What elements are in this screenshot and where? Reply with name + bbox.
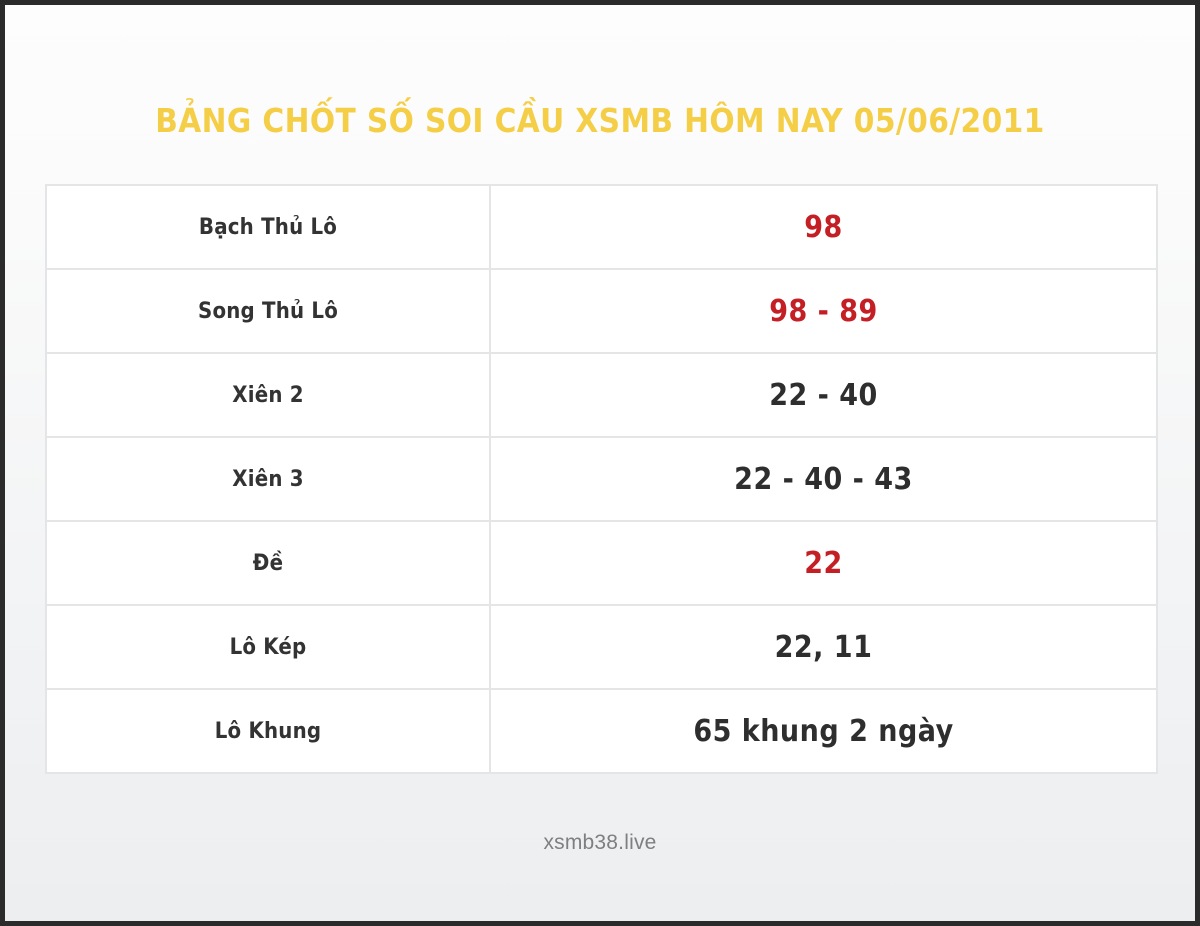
row-label: Lô Kép	[230, 635, 307, 660]
row-label-cell: Lô Kép	[46, 605, 490, 689]
page-title: BẢNG CHỐT SỐ SOI CẦU XSMB HÔM NAY 05/06/…	[5, 101, 1195, 141]
soi-cau-table-body: Bạch Thủ Lô98Song Thủ Lô98 - 89Xiên 222 …	[46, 185, 1157, 773]
row-value: 65 khung 2 ngày	[693, 714, 953, 749]
table-row: Song Thủ Lô98 - 89	[46, 269, 1157, 353]
row-value: 22 - 40	[769, 378, 878, 413]
table-row: Bạch Thủ Lô98	[46, 185, 1157, 269]
row-label: Xiên 3	[232, 467, 303, 492]
row-label: Xiên 2	[232, 383, 303, 408]
row-label-cell: Lô Khung	[46, 689, 490, 773]
row-value: 22	[804, 546, 843, 581]
site-credit: xsmb38.live	[5, 831, 1195, 855]
row-value-cell: 98 - 89	[490, 269, 1157, 353]
row-value: 22 - 40 - 43	[734, 462, 913, 497]
table-row: Lô Kép22, 11	[46, 605, 1157, 689]
table-row: Xiên 222 - 40	[46, 353, 1157, 437]
row-value: 98 - 89	[769, 294, 878, 329]
row-label-cell: Song Thủ Lô	[46, 269, 490, 353]
row-value-cell: 22, 11	[490, 605, 1157, 689]
row-value-cell: 98	[490, 185, 1157, 269]
row-label-cell: Đề	[46, 521, 490, 605]
row-value-cell: 22 - 40 - 43	[490, 437, 1157, 521]
row-label-cell: Xiên 2	[46, 353, 490, 437]
table-row: Đề22	[46, 521, 1157, 605]
row-label: Đề	[253, 551, 283, 576]
table-row: Xiên 322 - 40 - 43	[46, 437, 1157, 521]
row-label-cell: Bạch Thủ Lô	[46, 185, 490, 269]
page-canvas: BẢNG CHỐT SỐ SOI CẦU XSMB HÔM NAY 05/06/…	[5, 5, 1195, 921]
row-value-cell: 22	[490, 521, 1157, 605]
row-value-cell: 22 - 40	[490, 353, 1157, 437]
row-label: Lô Khung	[215, 719, 322, 744]
row-label-cell: Xiên 3	[46, 437, 490, 521]
soi-cau-table: Bạch Thủ Lô98Song Thủ Lô98 - 89Xiên 222 …	[45, 184, 1158, 774]
table-row: Lô Khung65 khung 2 ngày	[46, 689, 1157, 773]
row-label: Bạch Thủ Lô	[199, 215, 337, 240]
row-value: 22, 11	[775, 630, 873, 665]
row-value-cell: 65 khung 2 ngày	[490, 689, 1157, 773]
row-label: Song Thủ Lô	[198, 299, 338, 324]
row-value: 98	[804, 210, 843, 245]
